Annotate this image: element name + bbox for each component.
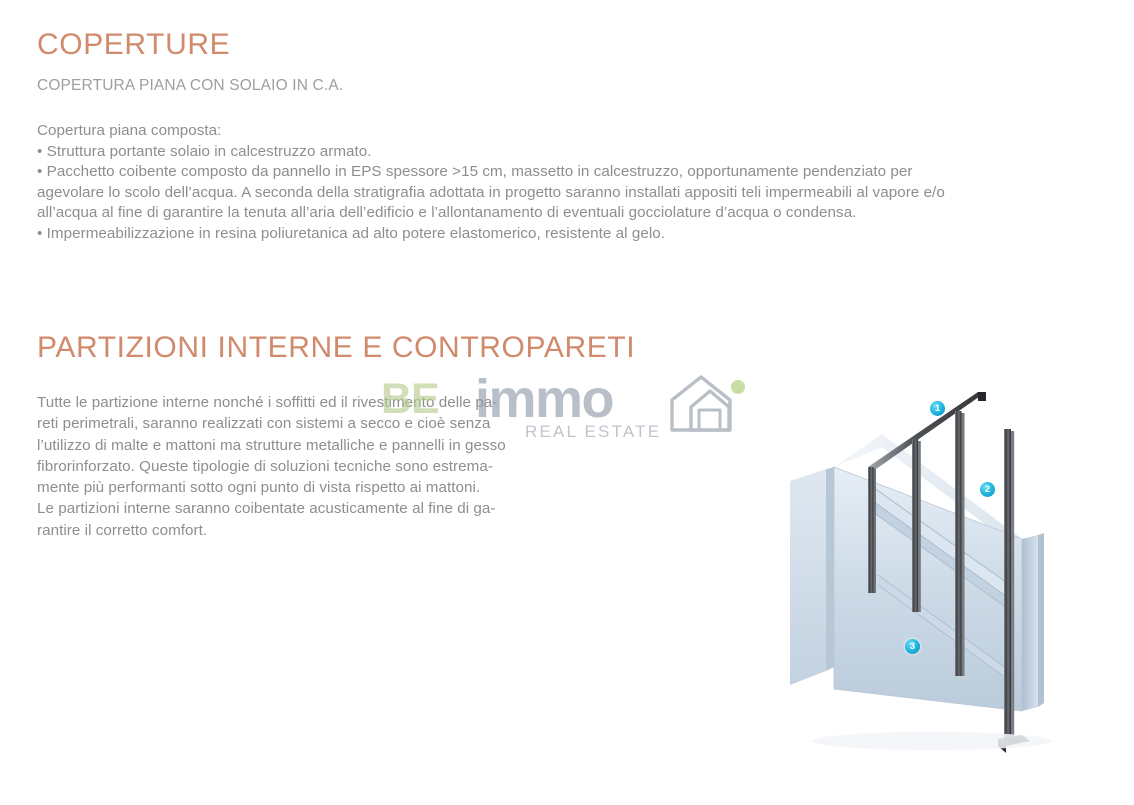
partition-wall-illustration: 1 2 3 <box>782 389 1069 766</box>
body-line: mente più performanti sotto ogni punto d… <box>37 477 582 498</box>
body-line: Tutte le partizione interne nonché i sof… <box>37 392 582 413</box>
board-right-edge <box>1022 533 1044 711</box>
body-line: • Pacchetto coibente composto da pannell… <box>37 162 1067 183</box>
body-line: reti perimetrali, saranno realizzati con… <box>37 413 582 434</box>
subtitle-coperture: COPERTURA PIANA CON SOLAIO IN C.A. <box>37 76 1067 95</box>
body-line: agevolare lo scolo dell’acqua. A seconda… <box>37 183 1067 204</box>
callout-badge-1: 1 <box>930 401 945 416</box>
body-line: fibrorinforzato. Queste tipologie di sol… <box>37 456 582 477</box>
body-line: Le partizioni interne saranno coibentate… <box>37 498 582 519</box>
page-title-coperture: COPERTURE <box>37 28 1067 62</box>
body-line: • Struttura portante solaio in calcestru… <box>37 142 1067 163</box>
body-line: • Impermeabilizzazione in resina poliure… <box>37 224 1067 245</box>
document-page: COPERTURE COPERTURA PIANA CON SOLAIO IN … <box>0 0 1134 805</box>
callout-badge-3: 3 <box>905 639 920 654</box>
body-coperture: Copertura piana composta: • Struttura po… <box>37 121 1067 244</box>
section-coperture: COPERTURE COPERTURA PIANA CON SOLAIO IN … <box>37 28 1067 244</box>
body-line: l’utilizzo di malte e mattoni ma struttu… <box>37 435 582 456</box>
page-title-partizioni: PARTIZIONI INTERNE E CONTROPARETI <box>37 330 737 366</box>
section-partizioni-interne: PARTIZIONI INTERNE E CONTROPARETI Tutte … <box>37 330 737 541</box>
body-line: Copertura piana composta: <box>37 121 1067 142</box>
callout-badge-2: 2 <box>980 482 995 497</box>
back-wall-slab <box>790 467 834 685</box>
body-line: rantire il corretto comfort. <box>37 520 582 541</box>
body-partizioni: Tutte le partizione interne nonché i sof… <box>37 392 582 541</box>
body-line: all’acqua al fine di garantire la tenuta… <box>37 203 1067 224</box>
drywall-partition-diagram <box>782 389 1069 766</box>
